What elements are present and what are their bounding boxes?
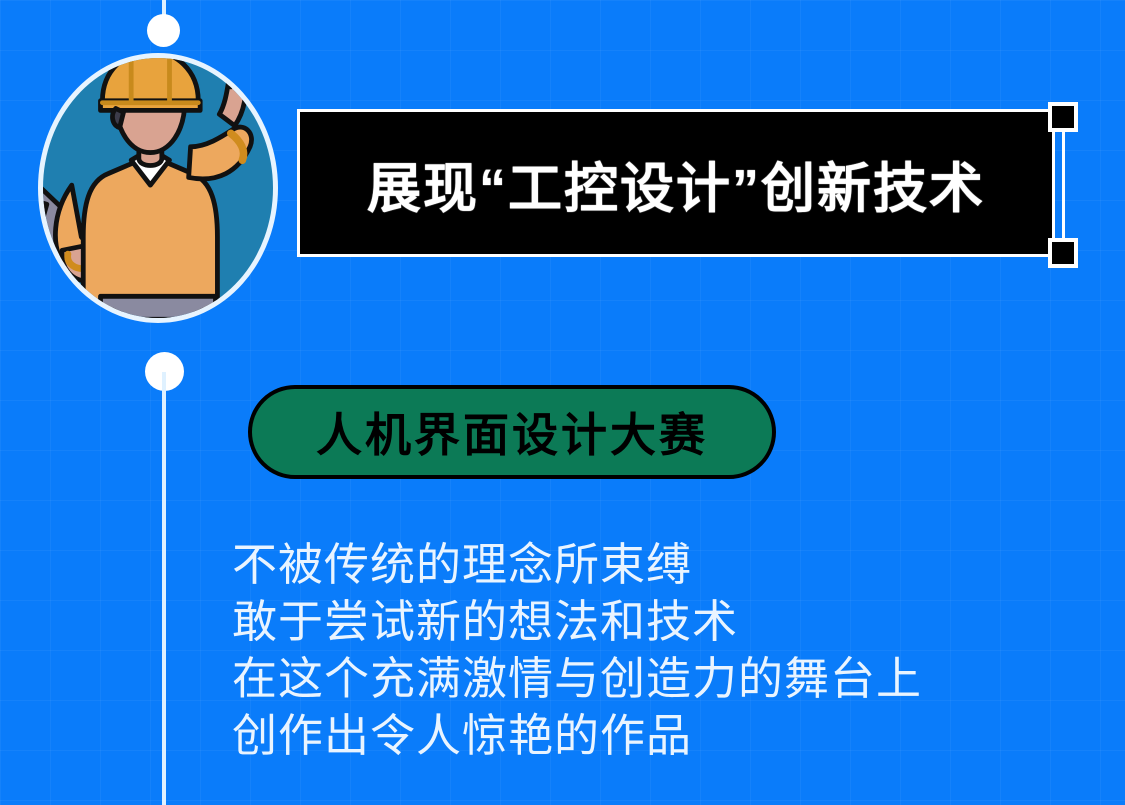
body-line-1: 不被传统的理念所束缚 — [232, 536, 922, 593]
decor-line-bottom — [162, 372, 166, 805]
body-copy: 不被传统的理念所束缚 敢于尝试新的想法和技术 在这个充满激情与创造力的舞台上 创… — [232, 536, 922, 764]
selection-handle-bottom-right[interactable] — [1048, 238, 1078, 268]
contest-badge-label: 人机界面设计大赛 — [316, 399, 708, 465]
decor-dot-top — [147, 14, 180, 47]
selection-edge-right — [1062, 132, 1065, 238]
contest-badge[interactable]: 人机界面设计大赛 — [248, 385, 776, 479]
page-title: 展现“工控设计”创新技术 — [367, 144, 985, 223]
body-line-3: 在这个充满激情与创造力的舞台上 — [232, 650, 922, 707]
title-banner-bar: 展现“工控设计”创新技术 — [300, 112, 1052, 254]
body-line-2: 敢于尝试新的想法和技术 — [232, 593, 922, 650]
body-line-4: 创作出令人惊艳的作品 — [232, 707, 922, 764]
title-banner[interactable]: 展现“工控设计”创新技术 — [300, 112, 1052, 254]
engineer-with-hardhat-illustration[interactable] — [38, 53, 278, 323]
poster-canvas: 展现“工控设计”创新技术 人机界面设计大赛 不被传统的理念所束缚 敢于尝试新的想… — [0, 0, 1125, 805]
selection-handle-top-right[interactable] — [1048, 102, 1078, 132]
